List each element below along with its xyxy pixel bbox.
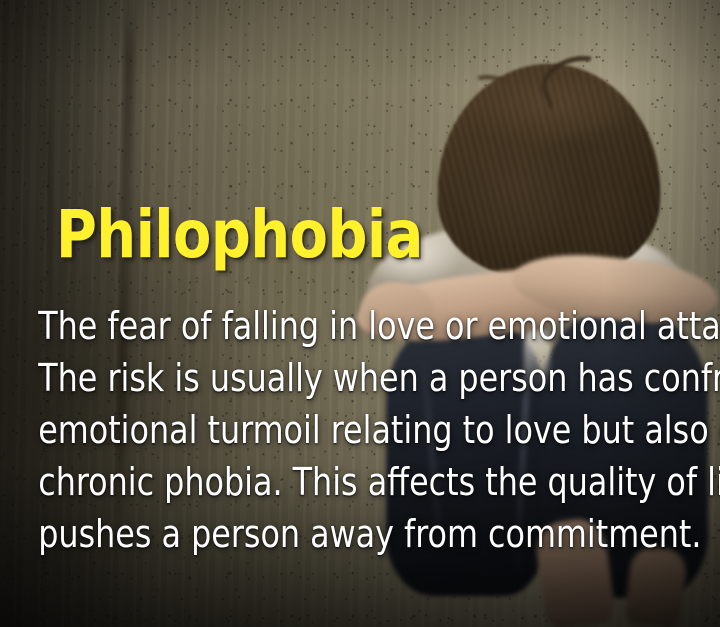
philophobia-poster: Philophobia The fear of falling in love … [0, 0, 720, 627]
child-figure [0, 0, 720, 627]
right-shin [623, 545, 688, 627]
hand [360, 282, 434, 334]
